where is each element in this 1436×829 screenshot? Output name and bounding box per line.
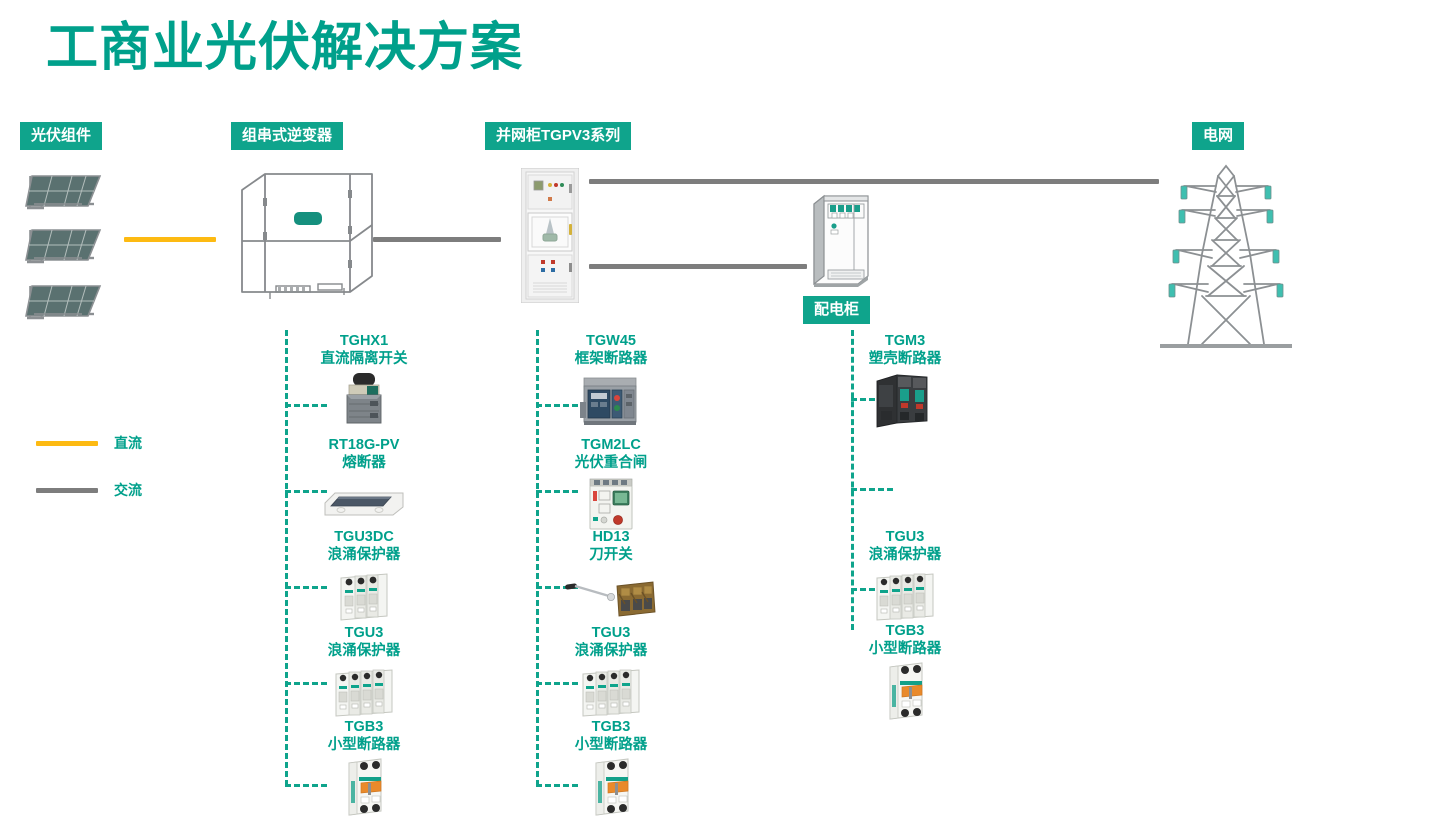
moulded-case-breaker-icon [820,371,990,429]
component-code: TGU3DC [279,528,449,546]
component-tgu3[interactable]: TGU3 浪涌保护器 [820,528,990,625]
fuse-holder-icon [279,475,449,533]
dc-isolator-switch-icon [279,371,449,429]
surge-protector-4p-icon [279,663,449,721]
air-circuit-breaker-icon [526,371,696,429]
component-code: TGU3 [279,624,449,642]
component-code: TGM3 [820,332,990,350]
component-name: 熔断器 [279,454,449,472]
badge-distribution-cabinet[interactable]: 配电柜 [803,296,870,324]
component-code: TGW45 [526,332,696,350]
miniature-circuit-breaker-icon [279,757,449,815]
component-code: TGB3 [820,622,990,640]
grid-cabinet-to-tower-ac-line [589,179,1159,184]
legend-label-ac: 交流 [114,480,142,500]
grid-cabinet-to-distribution-ac-line [589,264,807,269]
pv-recloser-icon [526,475,696,533]
component-code: TGU3 [526,624,696,642]
miniature-circuit-breaker-icon [820,661,990,719]
ac-line-swatch [36,488,98,493]
surge-protector-4p-icon [820,567,990,625]
branch-line [851,488,893,491]
component-name: 浪涌保护器 [279,546,449,564]
component-code: TGB3 [279,718,449,736]
surge-protector-4p-icon [526,663,696,721]
component-name: 小型断路器 [526,736,696,754]
solar-panel-icon [22,168,114,220]
badge-string-inverter[interactable]: 组串式逆变器 [231,122,343,150]
component-code: RT18G-PV [279,436,449,454]
component-tgm3[interactable]: TGM3 塑壳断路器 [820,332,990,429]
legend-item-ac: 交流 [36,480,142,500]
component-name: 刀开关 [526,546,696,564]
component-hd13[interactable]: HD13 刀开关 [526,528,696,625]
component-tgb3[interactable]: TGB3 小型断路器 [526,718,696,815]
component-code: TGHX1 [279,332,449,350]
component-code: TGM2LC [526,436,696,454]
component-name: 直流隔离开关 [279,350,449,368]
badge-grid-cabinet[interactable]: 并网柜TGPV3系列 [485,122,631,150]
component-tgu3[interactable]: TGU3 浪涌保护器 [526,624,696,721]
inverter-icon [232,168,378,303]
component-name: 光伏重合闸 [526,454,696,472]
power-pylon-icon [1160,162,1292,354]
knife-switch-icon [526,567,696,625]
diagram-canvas: 工商业光伏解决方案 光伏组件 组串式逆变器 并网柜TGPV3系列 配电柜 电网 [0,0,1436,829]
surge-protector-3p-icon [279,567,449,625]
dc-line-swatch [36,441,98,446]
component-tghx1[interactable]: TGHX1 直流隔离开关 [279,332,449,429]
component-name: 小型断路器 [279,736,449,754]
component-name: 小型断路器 [820,640,990,658]
switchgear-cabinet-icon [521,168,579,303]
inverter-to-grid-cabinet-ac-line [373,237,501,242]
distribution-cabinet-icon [806,192,876,287]
component-code: HD13 [526,528,696,546]
pv-to-inverter-dc-line [124,237,216,242]
miniature-circuit-breaker-icon [526,757,696,815]
component-tgw45[interactable]: TGW45 框架断路器 [526,332,696,429]
component-rt18g-pv[interactable]: RT18G-PV 熔断器 [279,436,449,533]
component-name: 框架断路器 [526,350,696,368]
badge-pv-modules[interactable]: 光伏组件 [20,122,102,150]
legend-label-dc: 直流 [114,433,142,453]
component-code: TGU3 [820,528,990,546]
component-code: TGB3 [526,718,696,736]
component-tgb3[interactable]: TGB3 小型断路器 [279,718,449,815]
component-name: 浪涌保护器 [820,546,990,564]
badge-power-grid[interactable]: 电网 [1192,122,1244,150]
solar-panel-icon [22,222,114,274]
component-name: 浪涌保护器 [526,642,696,660]
component-name: 浪涌保护器 [279,642,449,660]
component-tgb3[interactable]: TGB3 小型断路器 [820,622,990,719]
component-tgu3dc[interactable]: TGU3DC 浪涌保护器 [279,528,449,625]
page-title: 工商业光伏解决方案 [46,22,523,74]
component-tgu3[interactable]: TGU3 浪涌保护器 [279,624,449,721]
solar-panel-icon [22,278,114,330]
component-name: 塑壳断路器 [820,350,990,368]
component-tgm2lc[interactable]: TGM2LC 光伏重合闸 [526,436,696,533]
legend-item-dc: 直流 [36,433,142,453]
